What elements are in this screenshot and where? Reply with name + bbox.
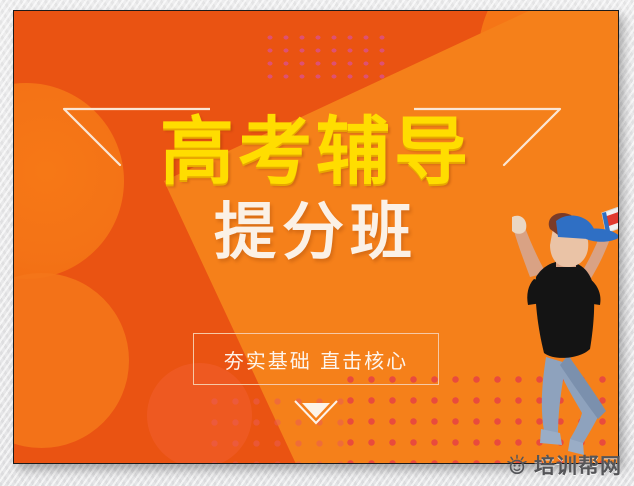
poster-title-main: 高考辅导 [14,115,618,189]
chevron-down-icon [293,399,339,440]
page-background: 高考辅导 提分班 夯实基础 直击核心 [0,0,634,486]
poster-canvas: 高考辅导 提分班 夯实基础 直击核心 [14,11,618,463]
watermark-text: 培训帮网 [534,450,622,480]
poster-frame: 高考辅导 提分班 夯实基础 直击核心 [13,10,619,464]
headline-block: 高考辅导 提分班 [14,115,618,263]
watermark: 培训帮网 [502,448,628,482]
sun-smiley-icon [506,454,528,476]
dot-grid-top [260,29,386,87]
slogan-box: 夯实基础 直击核心 [193,333,439,385]
poster-title-sub: 提分班 [14,201,618,263]
slogan-text: 夯实基础 直击核心 [224,345,408,374]
